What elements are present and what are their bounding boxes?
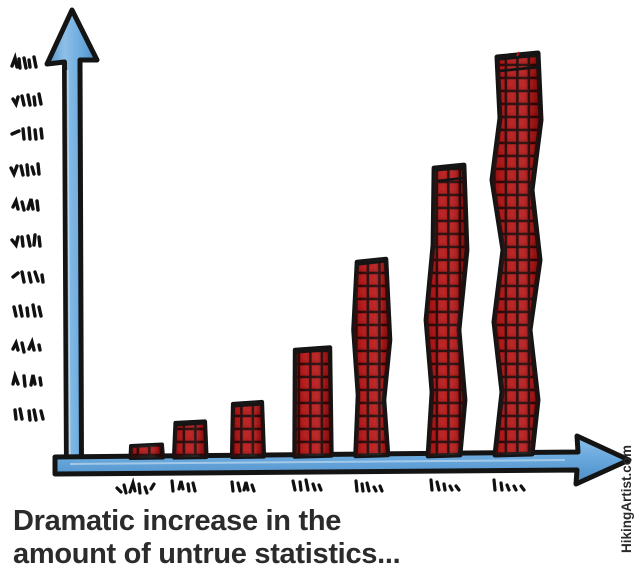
y-tick-label: [14, 305, 41, 316]
y-axis-arrow: [47, 10, 97, 468]
x-tick-label: [172, 481, 195, 491]
caption-line-1: Dramatic increase in the: [13, 505, 483, 538]
y-axis-tick-labels: [11, 57, 43, 420]
x-axis-tick-labels: [117, 480, 524, 493]
bar-4: [295, 348, 332, 457]
chart-caption: Dramatic increase in the amount of untru…: [13, 505, 483, 571]
y-tick-label: [13, 272, 43, 282]
y-tick-label: [13, 199, 38, 210]
bar-3: [232, 402, 264, 457]
y-tick-label: [12, 57, 36, 68]
y-tick-label: [12, 235, 40, 246]
sketch-bar-chart: Dramatic increase in the amount of untru…: [0, 0, 640, 585]
bar-6: [426, 165, 467, 456]
x-tick-label: [431, 480, 459, 490]
watermark-text: HikingArtist.com: [619, 434, 639, 564]
y-tick-label: [15, 409, 43, 420]
y-tick-label: [13, 342, 40, 352]
watermark: HikingArtist.com: [620, 437, 640, 567]
x-axis: [55, 436, 629, 484]
x-tick-label: [356, 481, 382, 491]
bar-2: [174, 422, 207, 458]
y-tick-label: [12, 128, 42, 139]
x-tick-label: [494, 480, 524, 490]
y-tick-label: [11, 164, 39, 175]
x-tick-label: [117, 483, 154, 493]
y-axis: [47, 10, 97, 468]
caption-line-2: amount of untrue statistics...: [13, 538, 483, 571]
x-tick-label: [293, 480, 321, 490]
y-tick-label: [13, 94, 41, 105]
bar-7: [492, 52, 541, 455]
chart-canvas: [0, 0, 640, 520]
x-tick-label: [232, 482, 254, 491]
y-tick-label: [13, 375, 41, 386]
bar-5: [354, 259, 391, 456]
bar-1: [131, 445, 164, 459]
